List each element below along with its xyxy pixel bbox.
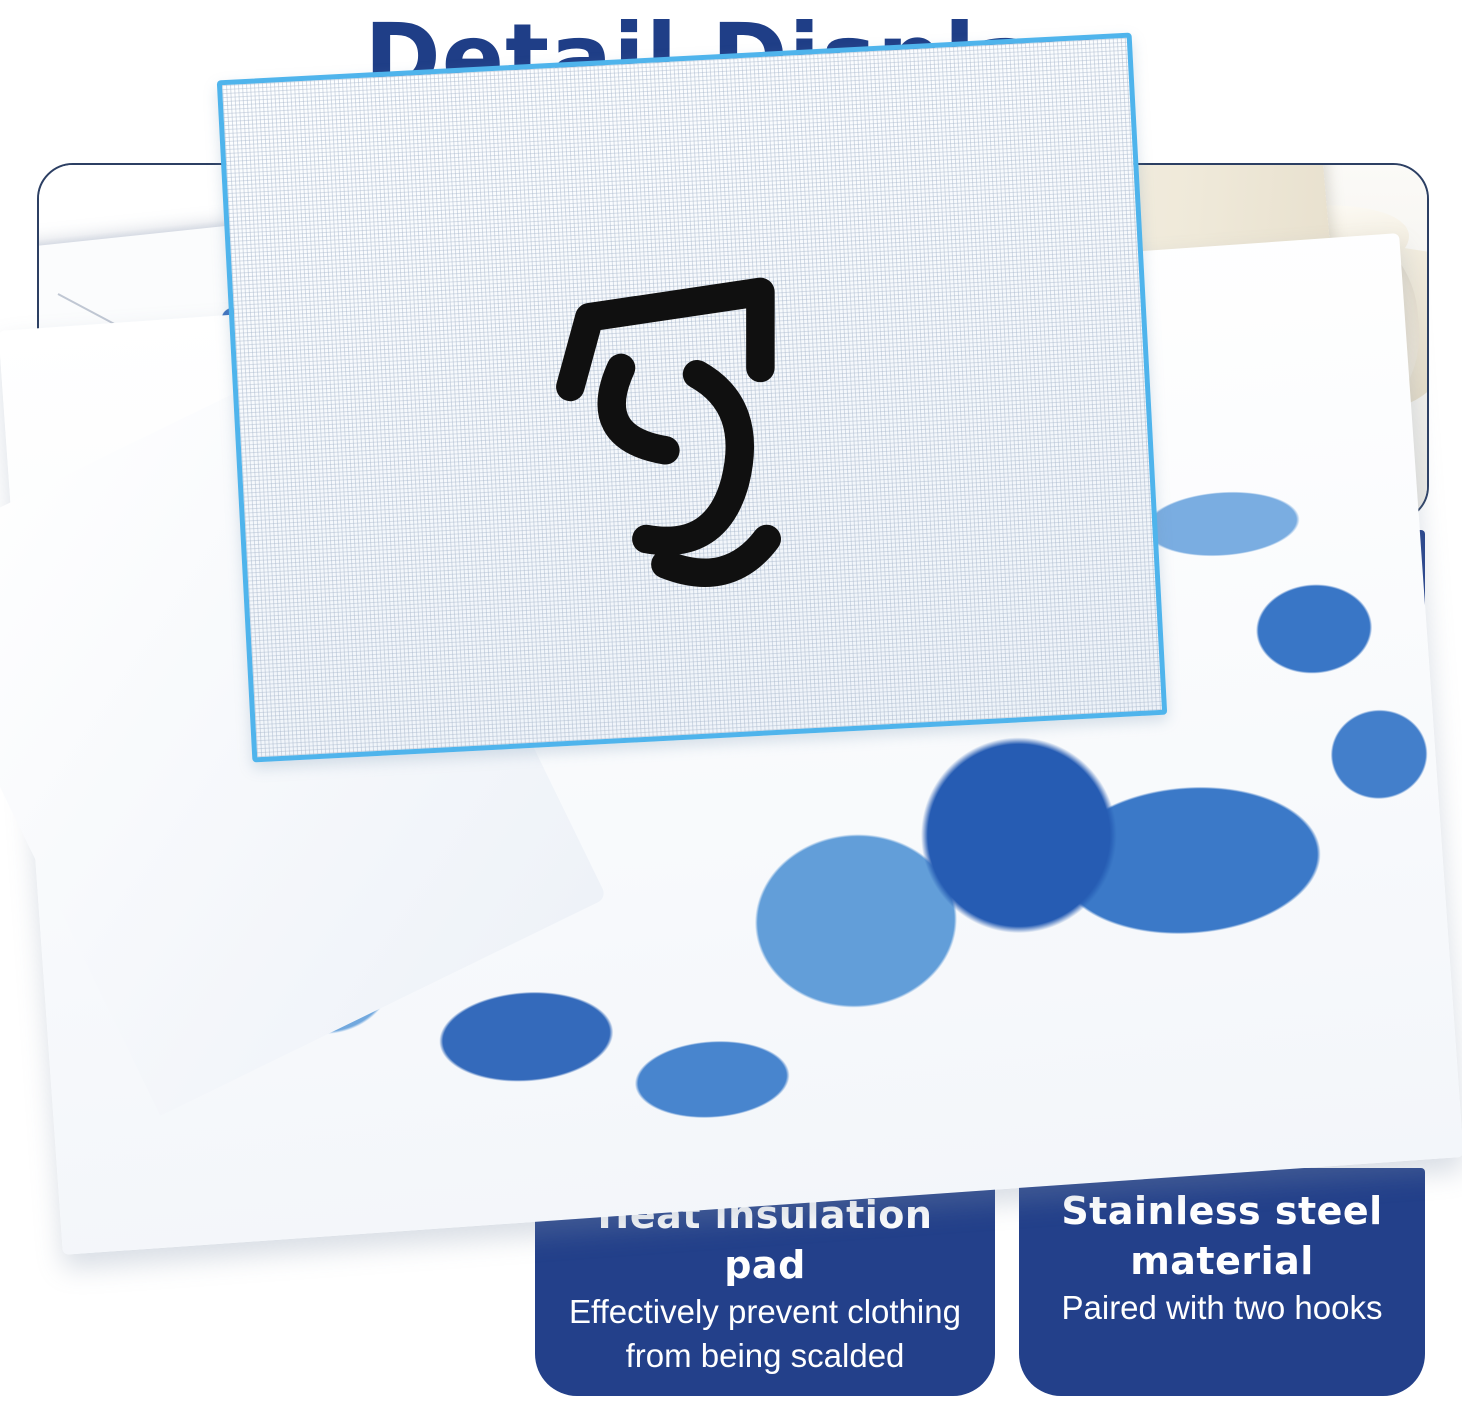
label-desc-heat-insulation-pad: Effectively prevent clothing from being … [569, 1290, 961, 1378]
label-card-stainless-steel-material: Stainless steel material Paired with two… [1019, 1168, 1425, 1396]
label-desc-stainless-steel-material: Paired with two hooks [1062, 1286, 1383, 1330]
label-title-stainless-steel-material: Stainless steel material [1061, 1186, 1382, 1286]
hook-icon-small [526, 224, 620, 420]
